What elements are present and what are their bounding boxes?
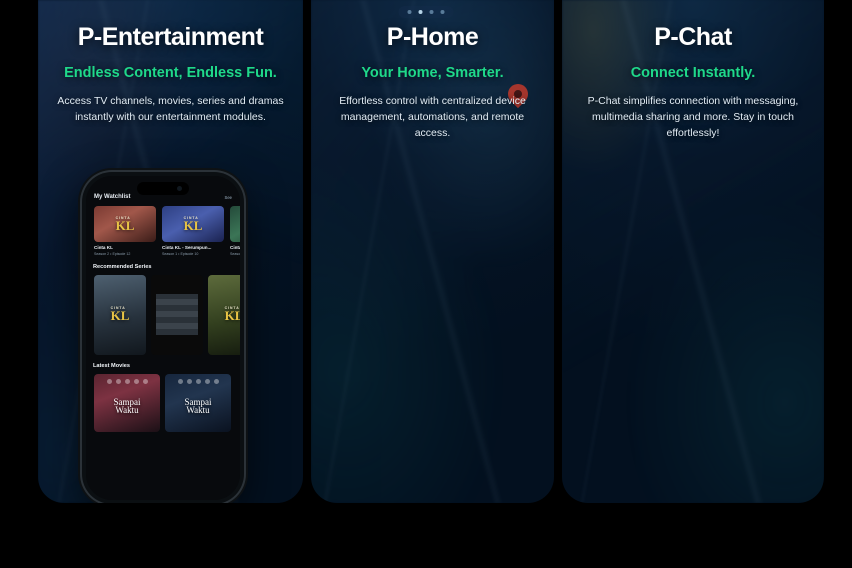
promo-panels: P-Entertainment Endless Content, Endless… <box>38 0 816 503</box>
poster-credits-icons <box>165 379 231 384</box>
series-poster[interactable]: CINTA KL <box>208 275 240 355</box>
panel-text-block: P-Chat Connect Instantly. P-Chat simplif… <box>562 0 824 142</box>
watchlist-header: My Watchlist See <box>86 194 240 206</box>
watchlist-card[interactable]: CINTA KL Cinta KL - Serumpun... Season 1… <box>162 206 224 256</box>
entertainment-app: My Watchlist See CINTA KL <box>86 176 240 500</box>
watchlist-item-meta: Season 1 • Episode 10 <box>162 252 224 256</box>
watchlist-item-name: Cinta KL - Serumpun... <box>162 245 224 250</box>
screenshot-root: P-Entertainment Endless Content, Endless… <box>0 0 852 568</box>
phone-notch <box>137 182 189 195</box>
panel-text-block: P-Home Your Home, Smarter. Effortless co… <box>311 0 554 142</box>
watchlist-item-name: Cinta KL <box>230 245 240 250</box>
phone-screen: My Watchlist See CINTA KL <box>86 176 240 500</box>
watchlist-see-all[interactable]: See <box>225 195 232 200</box>
latest-movies-row[interactable]: Sampai Waktu Sampai Waktu <box>86 369 240 432</box>
pager-dot-2[interactable] <box>419 10 423 14</box>
poster-art-title: CINTA KL <box>116 217 135 232</box>
recommended-row[interactable]: CINTA KL CINTA <box>86 270 240 355</box>
promo-panel-home: P-Home Your Home, Smarter. Effortless co… <box>311 0 554 503</box>
watchlist-item-meta: Season 3 • Episode 4 <box>230 252 240 256</box>
movie-title-art: Sampai Waktu <box>165 398 231 415</box>
page-title: P-Chat <box>576 24 810 52</box>
poster-thumbnail: CINTA KL <box>94 206 156 242</box>
panel-text-block: P-Entertainment Endless Content, Endless… <box>38 0 303 125</box>
poster-art-title: CINTA KL <box>225 307 240 322</box>
poster-credits-icons <box>94 379 160 384</box>
promo-panel-entertainment: P-Entertainment Endless Content, Endless… <box>38 0 303 503</box>
page-subtitle: Connect Instantly. <box>576 65 810 82</box>
watchlist-row[interactable]: CINTA KL Cinta KL Season 2 • Episode 12 <box>86 206 240 256</box>
page-body: P-Chat simplifies connection with messag… <box>576 93 810 142</box>
movie-title-art: Sampai Waktu <box>94 398 160 415</box>
movie-poster[interactable]: Sampai Waktu <box>165 374 231 432</box>
poster-thumbnail: CINTA KL <box>162 206 224 242</box>
watchlist-title: My Watchlist <box>94 194 130 200</box>
pager-dot-4[interactable] <box>441 10 445 14</box>
page-title: P-Home <box>325 24 540 52</box>
poster-thumbnail: CINTA KL <box>230 206 240 242</box>
pager-dot-3[interactable] <box>430 10 434 14</box>
poster-art-grid <box>156 294 198 336</box>
pager-dot-1[interactable] <box>408 10 412 14</box>
phone-mockup-entertainment: My Watchlist See CINTA KL <box>82 172 244 503</box>
page-subtitle: Your Home, Smarter. <box>325 65 540 82</box>
page-subtitle: Endless Content, Endless Fun. <box>52 65 289 82</box>
movie-poster[interactable]: Sampai Waktu <box>94 374 160 432</box>
promo-panel-chat: P-Chat Connect Instantly. P-Chat simplif… <box>562 0 824 503</box>
page-title: P-Entertainment <box>52 24 289 52</box>
page-body: Effortless control with centralized devi… <box>325 93 540 142</box>
series-poster[interactable] <box>151 275 203 355</box>
watchlist-card[interactable]: CINTA KL Cinta KL Season 3 • Episode 4 <box>230 206 240 256</box>
poster-art-title: CINTA KL <box>184 217 203 232</box>
watchlist-item-meta: Season 2 • Episode 12 <box>94 252 156 256</box>
watchlist-card[interactable]: CINTA KL Cinta KL Season 2 • Episode 12 <box>94 206 156 256</box>
series-poster[interactable]: CINTA KL <box>94 275 146 355</box>
latest-movies-title: Latest Movies <box>93 363 130 369</box>
latest-movies-section: Latest Movies Sampai Waktu <box>86 363 240 432</box>
poster-art-title: CINTA KL <box>111 307 130 322</box>
watchlist-item-name: Cinta KL <box>94 245 156 250</box>
carousel-pager[interactable] <box>399 6 454 18</box>
page-body: Access TV channels, movies, series and d… <box>52 93 289 126</box>
recommended-title: Recommended Series <box>93 264 151 270</box>
recommended-section: Recommended Series CINTA KL <box>86 264 240 355</box>
